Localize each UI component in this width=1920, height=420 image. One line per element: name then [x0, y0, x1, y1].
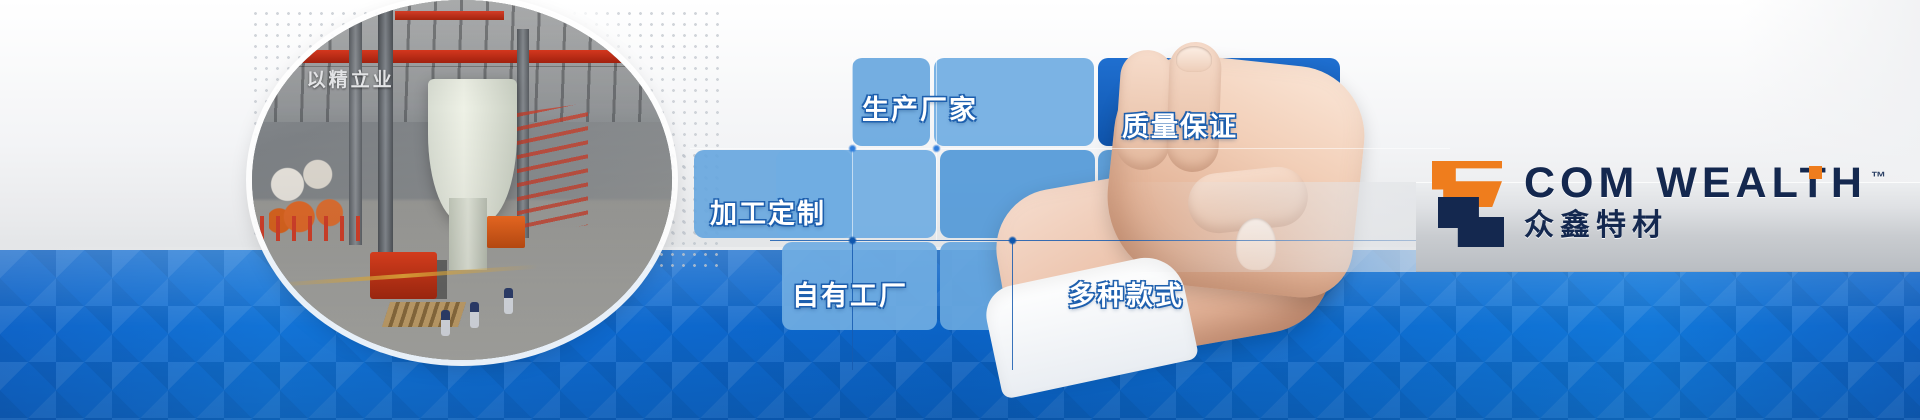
promo-banner: 以精立业 [0, 0, 1920, 420]
brand-name-english: COM WEALTH™ [1524, 162, 1886, 205]
brand-name-chinese: 众鑫特材 [1524, 209, 1886, 244]
feature-label-own-factory: 自有工厂 [792, 274, 908, 313]
factory-workshop-photo: 以精立业 [252, 0, 672, 360]
brand-text: COM WEALTH™ 众鑫特材 [1524, 162, 1886, 244]
z-monogram-icon [1424, 157, 1510, 249]
feature-tile-center[interactable] [940, 150, 1095, 238]
z-monogram-navy-part [1438, 197, 1504, 247]
brand-accent-square [1809, 166, 1822, 179]
feature-label-quality-assurance: 质量保证 [1122, 105, 1238, 144]
brand-logo[interactable]: COM WEALTH™ 众鑫特材 [1424, 148, 1920, 258]
feature-label-custom-processing: 加工定制 [710, 192, 826, 231]
photo-vignette [252, 0, 672, 360]
factory-photo-base: 以精立业 [252, 0, 672, 360]
feature-label-multiple-styles: 多种款式 [1068, 274, 1184, 313]
feature-label-manufacturer: 生产厂家 [862, 88, 978, 127]
trademark-icon: ™ [1871, 169, 1886, 186]
